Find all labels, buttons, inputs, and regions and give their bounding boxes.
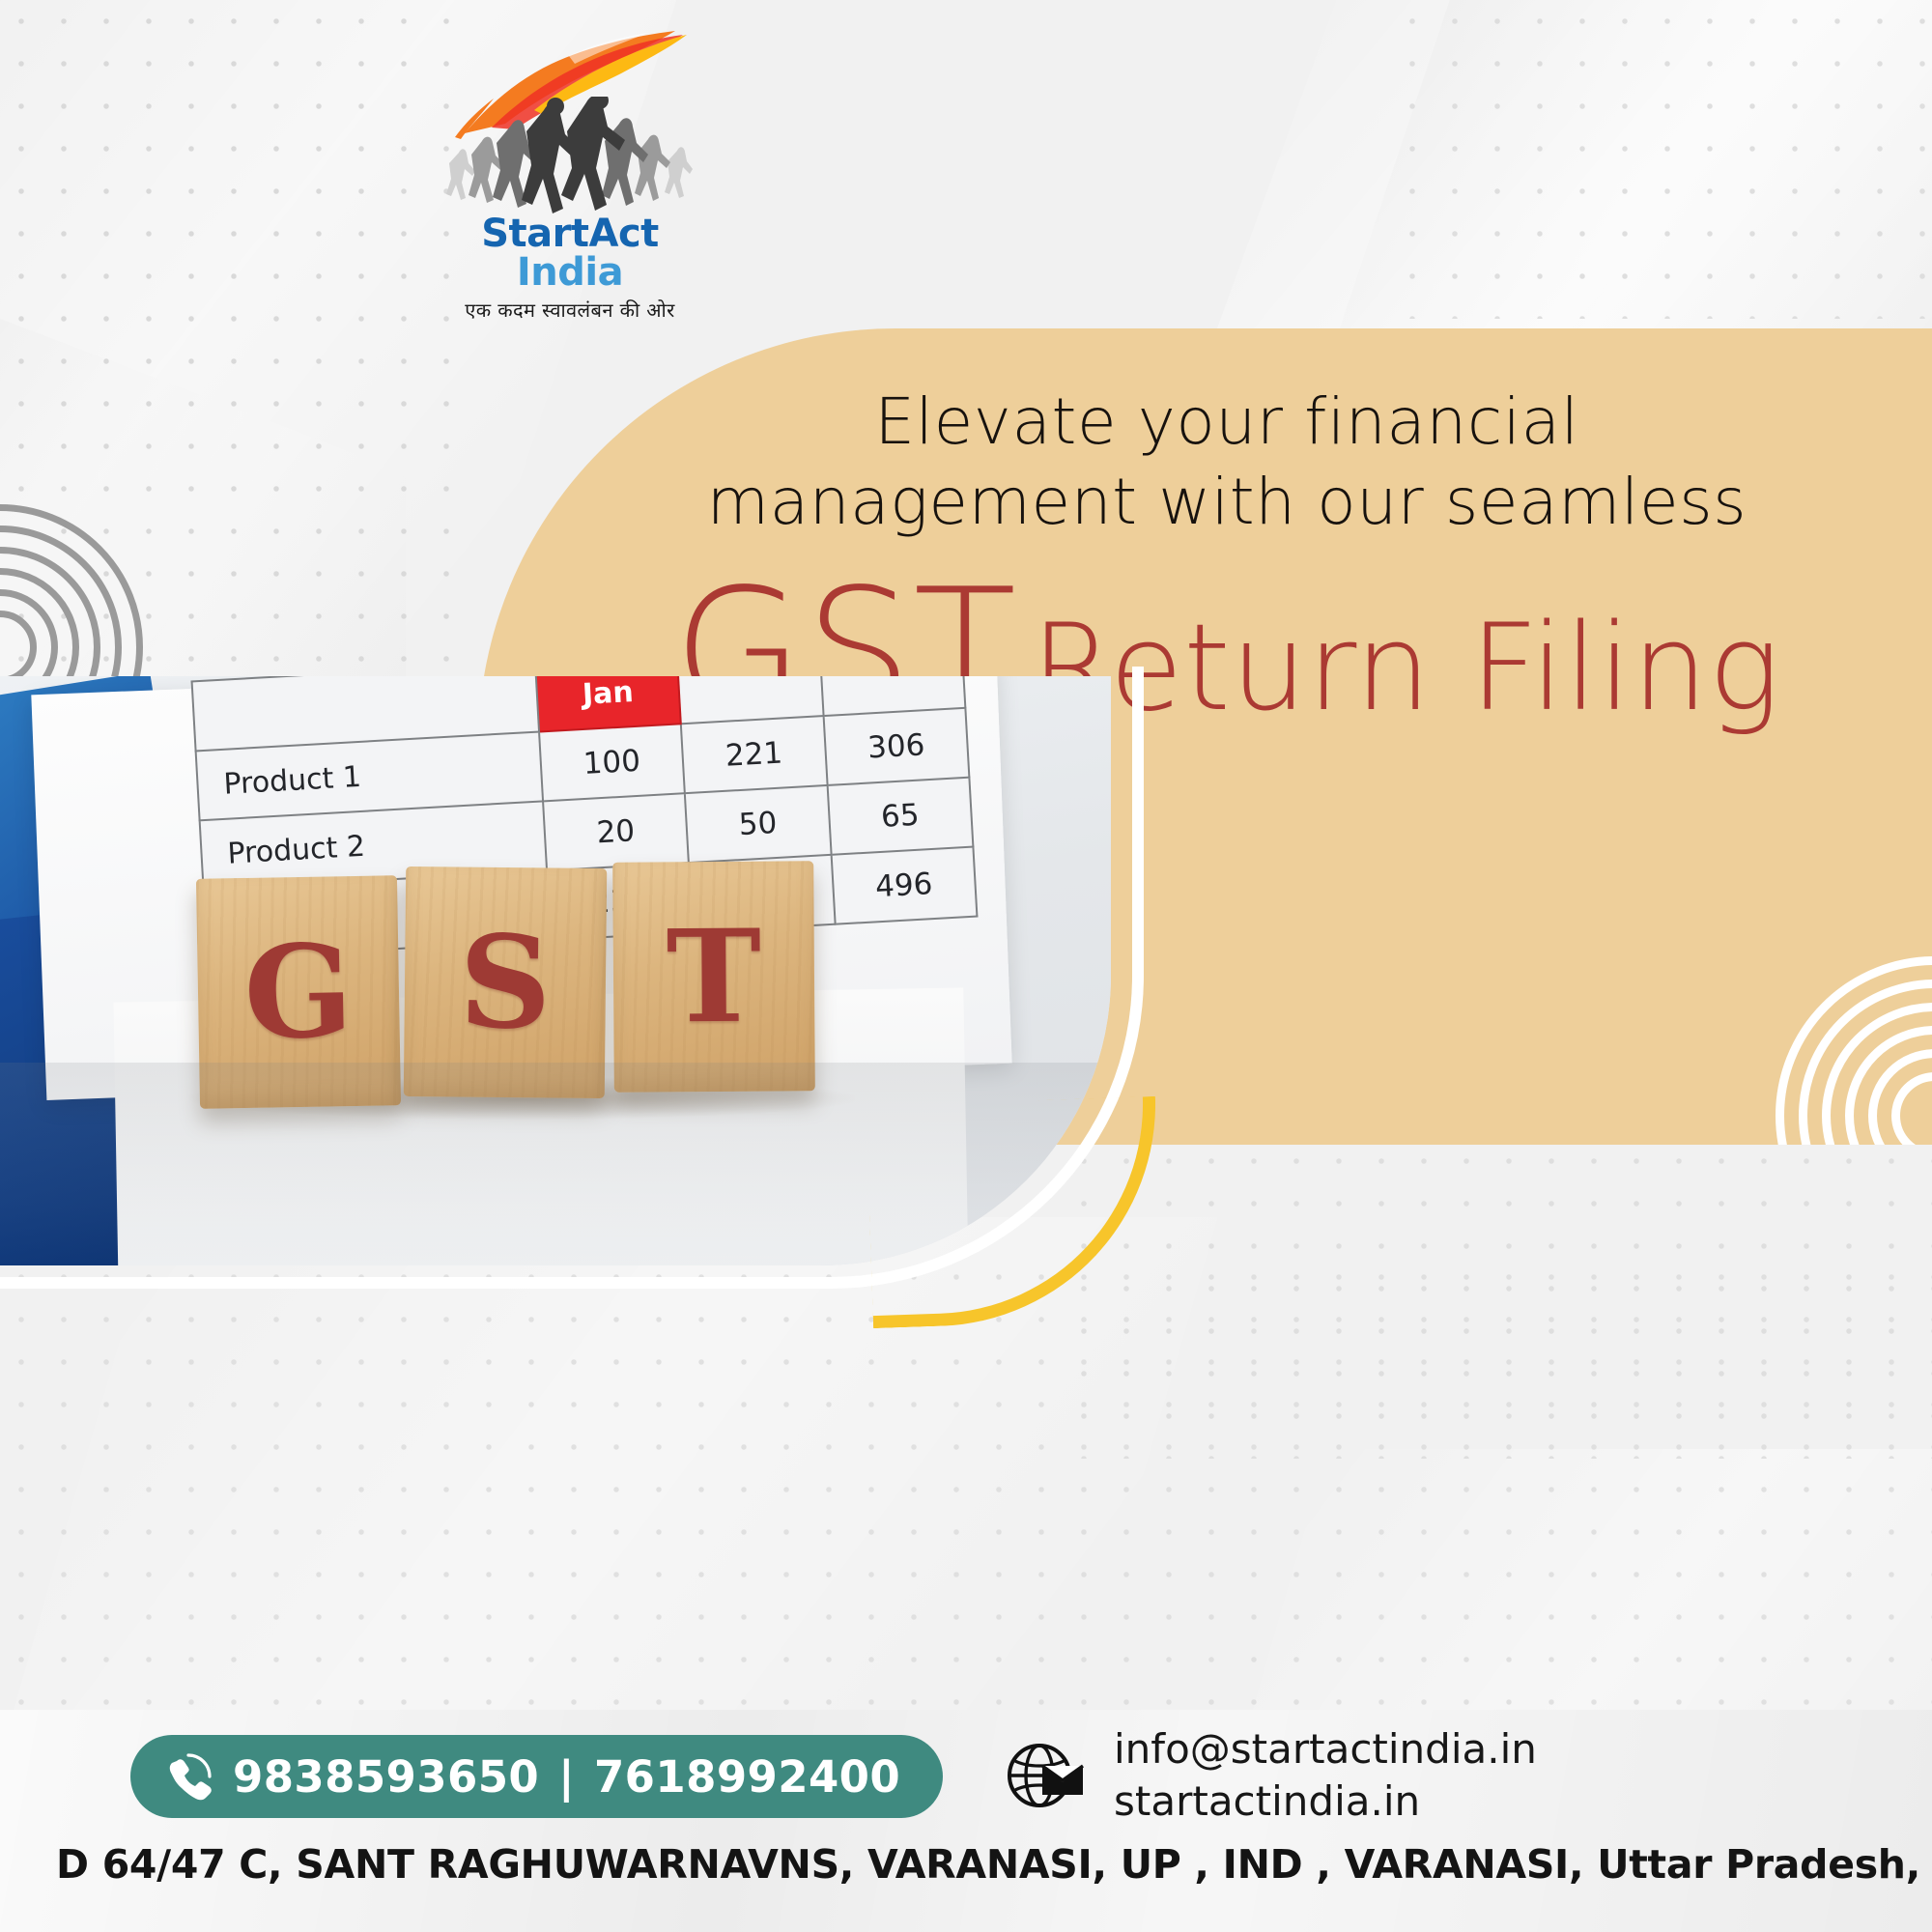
brand-logo[interactable]: StartAct India एक कदम स्वावलंबन की ओर	[440, 27, 700, 283]
table-header-jan: Jan	[535, 676, 681, 732]
table-cell: 221	[681, 716, 827, 793]
gst-photo: Jan Product 1 100 221 306 Product 2 20 5…	[0, 676, 1111, 1265]
logo-tagline: एक कदम स्वावलंबन की ओर	[440, 297, 700, 323]
table-cell: 100	[539, 724, 685, 801]
phone-primary: 9838593650	[233, 1751, 539, 1803]
table-cell: 50	[685, 785, 831, 863]
photo-scene: Jan Product 1 100 221 306 Product 2 20 5…	[0, 676, 1111, 1265]
dot-pattern-top-left	[0, 0, 454, 676]
poster-canvas: Elevate your financial management with o…	[0, 0, 1932, 1932]
desk-shadow	[0, 1063, 1111, 1265]
letter-block-t-text: T	[612, 861, 815, 1092]
table-cell: 20	[543, 793, 689, 870]
email-lines: info@startactindia.in startactindia.in	[1114, 1723, 1537, 1828]
dot-pattern-bottom	[0, 1256, 1932, 1710]
phone-separator: |	[558, 1751, 575, 1803]
background-gray-band-left	[0, 319, 406, 724]
phone-pill[interactable]: 9838593650 | 7618992400	[130, 1735, 943, 1818]
phone-secondary: 7618992400	[594, 1751, 900, 1803]
concentric-rings-right-decoration	[1776, 956, 1932, 1145]
headline-line-2: management with our seamless	[618, 462, 1835, 542]
footer-contact-bar: 9838593650 | 7618992400 info@startactind…	[0, 1710, 1932, 1932]
dot-pattern-top-right	[1391, 0, 1932, 319]
email-address: info@startactindia.in	[1114, 1723, 1537, 1776]
table-cell: 306	[823, 708, 969, 785]
address-text: D 64/47 C, SANT RAGHUWARNAVNS, VARANASI,…	[56, 1841, 1932, 1888]
globe-envelope-icon	[1000, 1731, 1089, 1820]
address-row: D 64/47 C, SANT RAGHUWARNAVNS, VARANASI,…	[39, 1841, 1913, 1888]
headline-line-1: Elevate your financial	[618, 382, 1835, 462]
runners-silhouette-icon	[440, 97, 700, 216]
table-cell: 496	[831, 847, 977, 924]
logo-wordmark-part2: India	[517, 250, 623, 295]
dot-pattern-middle-right	[1063, 1140, 1932, 1459]
letter-block-t: T	[612, 861, 815, 1092]
logo-artwork	[440, 27, 700, 216]
website-url: startactindia.in	[1114, 1776, 1537, 1828]
email-block[interactable]: info@startactindia.in startactindia.in	[1000, 1723, 1537, 1828]
logo-wordmark: StartAct India	[440, 214, 700, 292]
table-cell: 65	[827, 778, 973, 855]
hero-title-rest: Return Filing	[1031, 599, 1780, 738]
phone-icon	[163, 1751, 213, 1802]
